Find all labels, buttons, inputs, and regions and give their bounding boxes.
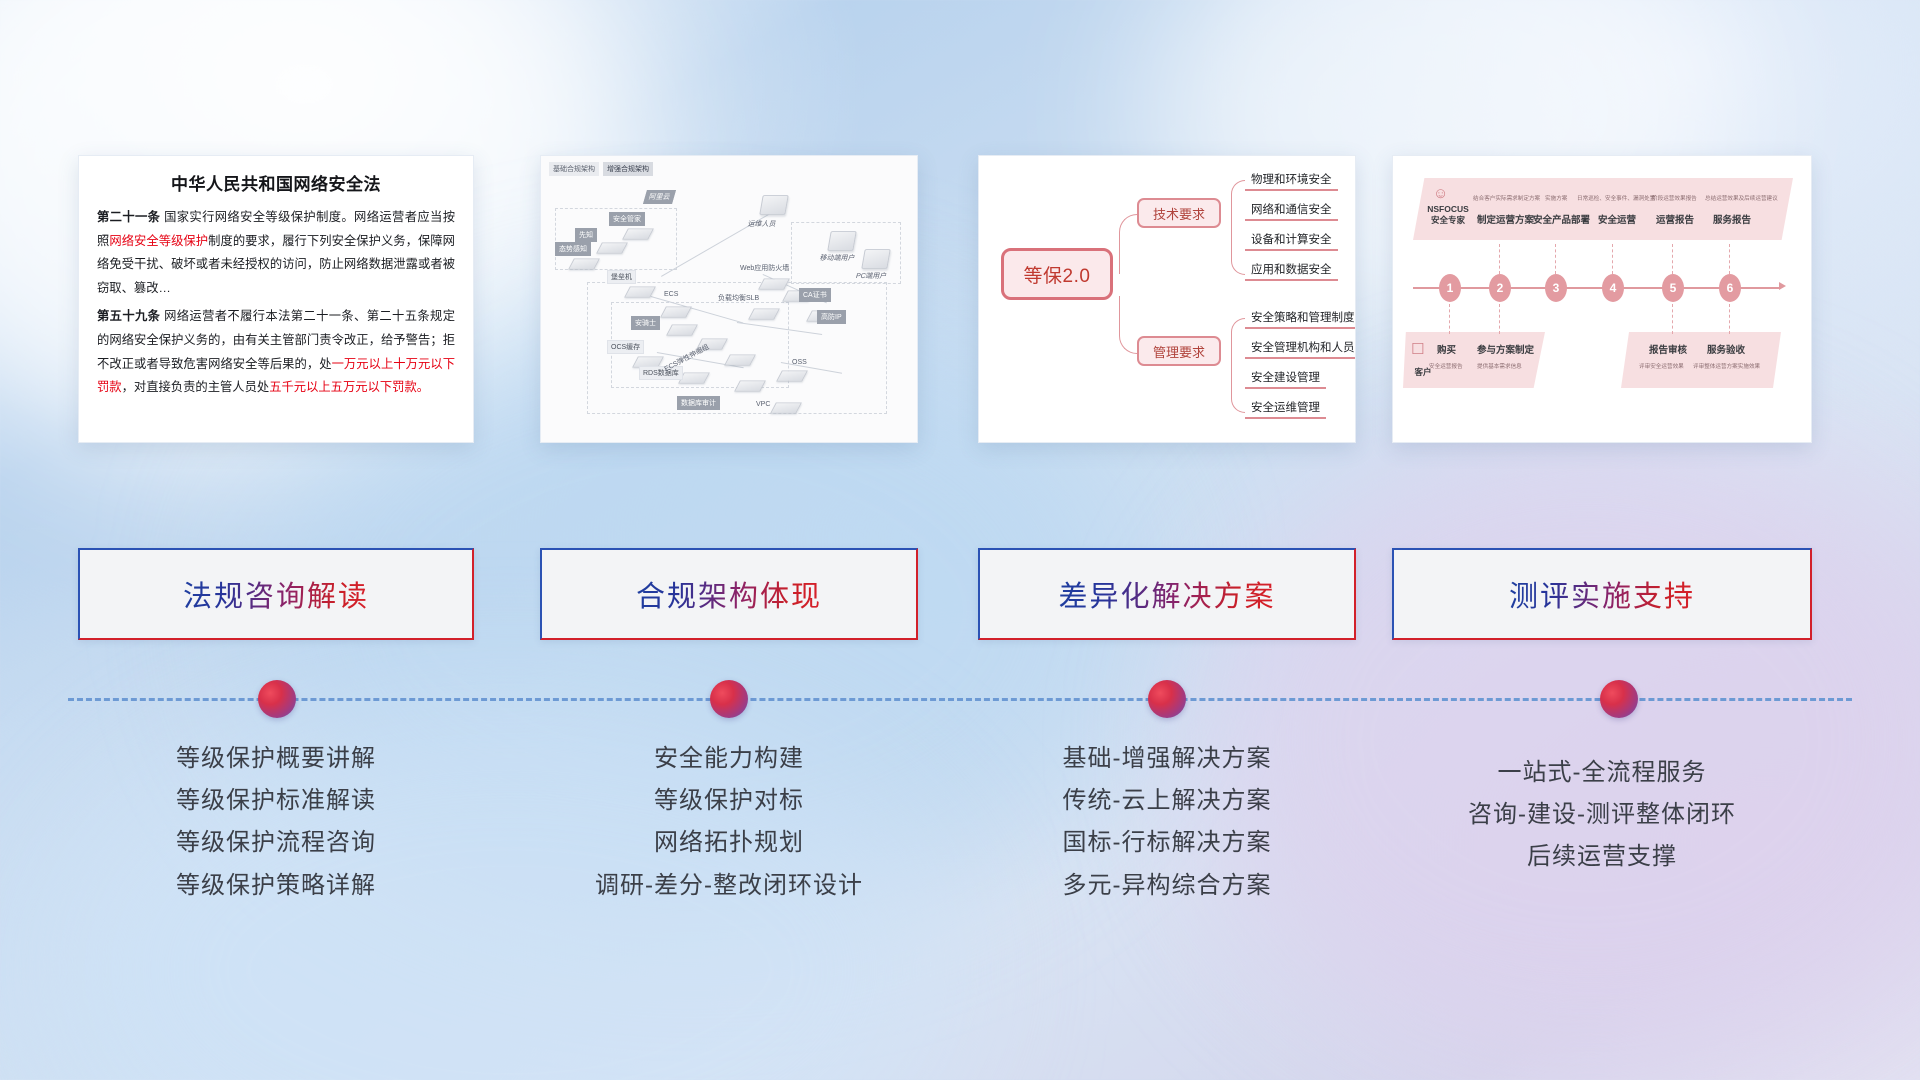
service-flow-diagram: ☺ NSFOCUS 安全专家 ☐ 客户 1 2 3 4 5 6 结合 bbox=[1393, 156, 1811, 442]
timeline-dot[interactable] bbox=[1600, 680, 1638, 718]
list-item: 多元-异构综合方案 bbox=[978, 865, 1356, 907]
node-label-pc-user: PC端用户 bbox=[852, 270, 892, 282]
title-box-label: 法规咨询解读 bbox=[183, 573, 369, 615]
detail-list-row: 等级保护概要讲解 等级保护标准解读 等级保护流程咨询 等级保护策略详解 安全能力… bbox=[0, 738, 1920, 958]
list-item: 网络拓扑规划 bbox=[540, 822, 918, 864]
flow-customer-title: 购买 bbox=[1437, 342, 1456, 356]
mindmap-branch-management: 管理要求 bbox=[1137, 336, 1221, 366]
flow-provider-title: 安全运营 bbox=[1598, 212, 1636, 226]
list-item: 传统-云上解决方案 bbox=[978, 780, 1356, 822]
article-21-highlight: 网络安全等级保护 bbox=[109, 234, 208, 248]
flow-tick bbox=[1672, 244, 1673, 274]
article-21-label: 第二十一条 bbox=[97, 210, 160, 224]
flow-tick bbox=[1499, 244, 1500, 274]
mindmap-leaf: 安全建设管理 bbox=[1245, 368, 1326, 389]
node-label-ca-cert: CA证书 bbox=[799, 288, 831, 302]
flow-provider-sub: 实施方案 bbox=[1545, 194, 1567, 202]
mindmap-leaf: 安全运维管理 bbox=[1245, 398, 1326, 419]
flow-customer-title: 参与方案制定 bbox=[1477, 342, 1534, 356]
title-box-label: 差异化解决方案 bbox=[1058, 573, 1275, 615]
timeline-dot[interactable] bbox=[258, 680, 296, 718]
title-box-label: 合规架构体现 bbox=[636, 573, 822, 615]
node-label-slb: 负载均衡SLB bbox=[715, 292, 762, 304]
mindmap-leaf: 网络和通信安全 bbox=[1245, 200, 1338, 221]
flow-customer-title: 报告审核 bbox=[1649, 342, 1687, 356]
node-label-vpc: VPC bbox=[753, 400, 773, 409]
detail-list-regulation-consulting: 等级保护概要讲解 等级保护标准解读 等级保护流程咨询 等级保护策略详解 bbox=[78, 738, 474, 907]
expert-person-icon: ☺ bbox=[1433, 186, 1448, 201]
image-card-row: 中华人民共和国网络安全法 第二十一条 国家实行网络安全等级保护制度。网络运营者应… bbox=[0, 0, 1920, 460]
flow-tick bbox=[1672, 304, 1673, 334]
law-article-59: 第五十九条 网络运营者不履行本法第二十一条、第二十五条规定的网络安全保护义务的，… bbox=[97, 305, 455, 399]
title-box-regulation-consulting[interactable]: 法规咨询解读 bbox=[78, 548, 474, 640]
flow-step-node: 6 bbox=[1719, 274, 1741, 302]
node-label-bastion-host: 堡垒机 bbox=[607, 270, 636, 284]
mindmap-leaf: 安全策略和管理制度 bbox=[1245, 308, 1356, 329]
mindmap-leaf: 设备和计算安全 bbox=[1245, 230, 1338, 251]
provider-brand-label: NSFOCUS 安全专家 bbox=[1417, 204, 1479, 225]
timeline-dashed-line bbox=[68, 698, 1852, 701]
list-item: 咨询-建设-测评整体闭环 bbox=[1392, 794, 1812, 836]
flow-provider-sub: 总结运营效果及后续运营建议 bbox=[1705, 194, 1778, 202]
list-item: 等级保护对标 bbox=[540, 780, 918, 822]
mindmap-edge bbox=[1119, 214, 1137, 274]
list-item: 调研-差分-整改闭环设计 bbox=[540, 865, 918, 907]
flow-provider-title: 服务报告 bbox=[1713, 212, 1751, 226]
flow-provider-sub: 结合客户实际需求制定方案 bbox=[1473, 194, 1540, 202]
architecture-tabs: 基础合规架构 增强合规架构 bbox=[549, 162, 653, 176]
list-item: 基础-增强解决方案 bbox=[978, 738, 1356, 780]
law-document: 中华人民共和国网络安全法 第二十一条 国家实行网络安全等级保护制度。网络运营者应… bbox=[79, 156, 473, 415]
card-service-flow: ☺ NSFOCUS 安全专家 ☐ 客户 1 2 3 4 5 6 结合 bbox=[1392, 155, 1812, 443]
list-item: 等级保护概要讲解 bbox=[78, 738, 474, 780]
flow-step-node: 1 bbox=[1439, 274, 1461, 302]
flow-tick bbox=[1729, 244, 1730, 274]
flow-tick bbox=[1555, 244, 1556, 274]
detail-list-assessment-support: 一站式-全流程服务 咨询-建设-测评整体闭环 后续运营支撑 bbox=[1392, 752, 1812, 879]
node-label-ecs: ECS bbox=[661, 290, 681, 299]
detail-list-compliance-architecture: 安全能力构建 等级保护对标 网络拓扑规划 调研-差分-整改闭环设计 bbox=[540, 738, 918, 907]
node-label-situational-awareness: 态势感知 bbox=[555, 242, 591, 256]
node-label-ocs-cache: OCS缓存 bbox=[607, 340, 644, 354]
list-item: 等级保护策略详解 bbox=[78, 865, 474, 907]
mindmap-leaf: 物理和环境安全 bbox=[1245, 170, 1338, 191]
list-item: 等级保护标准解读 bbox=[78, 780, 474, 822]
list-item: 国标-行标解决方案 bbox=[978, 822, 1356, 864]
customer-band-left bbox=[1403, 332, 1545, 388]
timeline-dot[interactable] bbox=[710, 680, 748, 718]
node-label-mobile-user: 移动端用户 bbox=[816, 252, 860, 264]
flow-customer-sub: 评审安全运营效果 bbox=[1639, 362, 1684, 370]
flow-customer-title: 服务验收 bbox=[1707, 342, 1745, 356]
flow-tick bbox=[1449, 304, 1450, 334]
flow-customer-sub: 提供基本需求信息 bbox=[1477, 362, 1522, 370]
law-article-21: 第二十一条 国家实行网络安全等级保护制度。网络运营者应当按照网络安全等级保护制度… bbox=[97, 206, 455, 300]
customer-person-icon: ☐ bbox=[1411, 342, 1424, 357]
card-mindmap-dengbao: 等保2.0 技术要求 管理要求 物理和环境安全 网络和通信安全 设备和计算安全 … bbox=[978, 155, 1356, 443]
flow-customer-sub: 安全运营报告 bbox=[1429, 362, 1463, 370]
flow-provider-title: 制定运营方案 bbox=[1477, 212, 1534, 226]
architecture-cloud-label: 阿里云 bbox=[643, 190, 676, 204]
mindmap-root: 等保2.0 bbox=[1001, 248, 1113, 300]
node-label-ops-user: 运维人员 bbox=[744, 218, 781, 230]
mindmap-branch-technical: 技术要求 bbox=[1137, 198, 1221, 228]
flow-customer-sub: 评审整体运营方案实施效果 bbox=[1693, 362, 1760, 370]
node-label-xianzhi: 先知 bbox=[575, 228, 597, 242]
mindmap: 等保2.0 技术要求 管理要求 物理和环境安全 网络和通信安全 设备和计算安全 … bbox=[979, 156, 1355, 442]
article-59-label: 第五十九条 bbox=[97, 309, 160, 323]
article-59-text-b: ，对直接负责的主管人员处 bbox=[122, 380, 270, 394]
flow-tick bbox=[1729, 304, 1730, 334]
customer-band-right bbox=[1621, 332, 1781, 388]
flow-step-node: 3 bbox=[1545, 274, 1567, 302]
law-title: 中华人民共和国网络安全法 bbox=[97, 170, 455, 195]
node-label-oss: OSS bbox=[789, 358, 810, 367]
title-box-compliance-architecture[interactable]: 合规架构体现 bbox=[540, 548, 918, 640]
list-item: 一站式-全流程服务 bbox=[1392, 752, 1812, 794]
detail-list-differentiated-solution: 基础-增强解决方案 传统-云上解决方案 国标-行标解决方案 多元-异构综合方案 bbox=[978, 738, 1356, 907]
node-label-waf: Web应用防火墙 bbox=[737, 262, 792, 274]
flow-provider-title: 安全产品部署 bbox=[1533, 212, 1590, 226]
flow-arrow-icon bbox=[1779, 282, 1786, 290]
mindmap-leaf: 安全管理机构和人员 bbox=[1245, 338, 1356, 359]
card-cloud-architecture: 基础合规架构 增强合规架构 阿里云 安全管家 先知 态势感知 堡垒机 ECS bbox=[540, 155, 918, 443]
node-label-security-butler: 安全管家 bbox=[609, 212, 645, 226]
flow-provider-sub: 阶段运营效果报告 bbox=[1652, 194, 1697, 202]
architecture-tab-enhanced: 增强合规架构 bbox=[603, 162, 653, 176]
architecture-tab-basic: 基础合规架构 bbox=[549, 162, 599, 176]
architecture-diagram: 基础合规架构 增强合规架构 阿里云 安全管家 先知 态势感知 堡垒机 ECS bbox=[541, 156, 917, 442]
flow-provider-title: 运营报告 bbox=[1656, 212, 1694, 226]
timeline-dot[interactable] bbox=[1148, 680, 1186, 718]
list-item: 后续运营支撑 bbox=[1392, 836, 1812, 878]
list-item: 等级保护流程咨询 bbox=[78, 822, 474, 864]
article-59-highlight-b: 五千元以上五万元以下罚款。 bbox=[269, 380, 429, 394]
title-box-row: 法规咨询解读 合规架构体现 差异化解决方案 测评实施支持 bbox=[0, 548, 1920, 648]
mindmap-edge bbox=[1119, 296, 1137, 354]
flow-step-node: 5 bbox=[1662, 274, 1684, 302]
flow-tick bbox=[1612, 244, 1613, 274]
flow-provider-sub: 日常巡检、安全事件、漏洞处置 bbox=[1577, 194, 1655, 202]
node-label-db-audit: 数据库审计 bbox=[677, 396, 720, 410]
timeline bbox=[0, 670, 1920, 730]
title-box-label: 测评实施支持 bbox=[1509, 573, 1695, 615]
title-box-assessment-support[interactable]: 测评实施支持 bbox=[1392, 548, 1812, 640]
mindmap-edge bbox=[1231, 351, 1245, 413]
card-cybersecurity-law: 中华人民共和国网络安全法 第二十一条 国家实行网络安全等级保护制度。网络运营者应… bbox=[78, 155, 474, 443]
flow-step-node: 2 bbox=[1489, 274, 1511, 302]
mindmap-leaf: 应用和数据安全 bbox=[1245, 260, 1338, 281]
node-label-anqishi: 安骑士 bbox=[631, 316, 660, 330]
flow-tick bbox=[1499, 304, 1500, 334]
mindmap-edge bbox=[1231, 213, 1245, 275]
node-label-anti-ddos-ip: 高防IP bbox=[817, 310, 846, 324]
list-item: 安全能力构建 bbox=[540, 738, 918, 780]
flow-step-node: 4 bbox=[1602, 274, 1624, 302]
title-box-differentiated-solution[interactable]: 差异化解决方案 bbox=[978, 548, 1356, 640]
